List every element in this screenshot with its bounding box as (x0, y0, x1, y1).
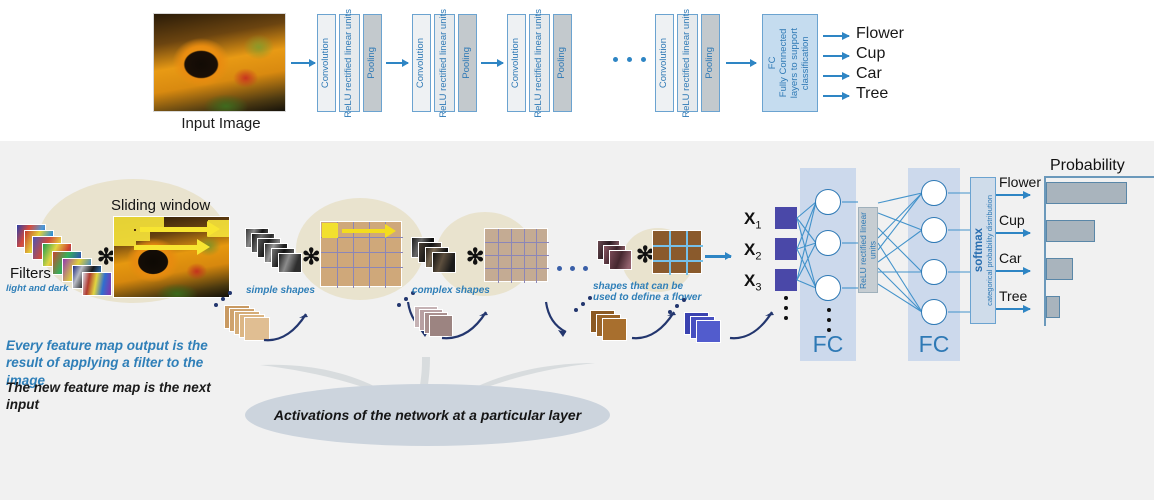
softmax-label: softmax (973, 228, 985, 272)
class-label-cup: Cup (999, 212, 1025, 228)
probability-chart (1044, 176, 1154, 326)
relu-band-network: ReLU rectified linear units (858, 207, 878, 293)
figure-root: Input Image Convolution ReLU rectified l… (0, 0, 1154, 500)
fc1-neuron-2 (815, 230, 841, 256)
arrow-class-car (996, 270, 1030, 272)
chart-title: Probability (1050, 157, 1125, 175)
fc1-neuron-ellipsis (827, 308, 833, 340)
class-label-tree: Tree (999, 288, 1027, 304)
softmax-band: softmax categorical probability distribu… (970, 177, 996, 324)
bar-cup (1046, 220, 1095, 242)
class-label-flower: Flower (999, 174, 1041, 190)
bar-flower (1046, 182, 1127, 204)
bar-car (1046, 258, 1073, 280)
arrow-class-cup (996, 232, 1030, 234)
fc2-neuron-2 (921, 217, 947, 243)
ellipsis-dot (827, 308, 831, 312)
fc1-neuron-3 (815, 275, 841, 301)
ellipsis-dot (827, 318, 831, 322)
fc1-neuron-1 (815, 189, 841, 215)
ellipsis-dot (827, 328, 831, 332)
arrow-class-tree (996, 308, 1030, 310)
fc2-neuron-3 (921, 259, 947, 285)
class-label-car: Car (999, 250, 1022, 266)
fc2-neuron-4 (921, 299, 947, 325)
arrow-class-flower (996, 194, 1030, 196)
softmax-sublabel: categorical probability distribution (985, 195, 994, 306)
bar-tree (1046, 296, 1060, 318)
fc2-neuron-1 (921, 180, 947, 206)
chart-top-rule (1044, 176, 1154, 178)
